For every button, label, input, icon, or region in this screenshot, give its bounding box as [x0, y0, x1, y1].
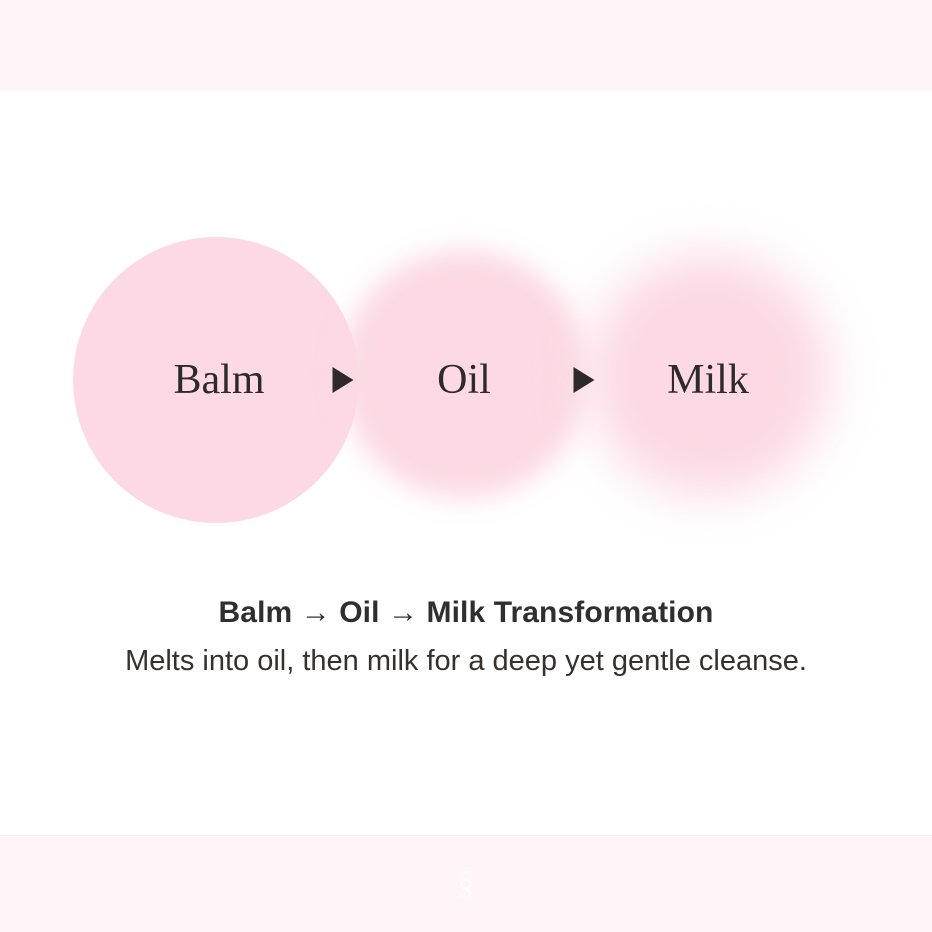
- section-mark-icon: §: [458, 867, 475, 901]
- transformation-diagram: Balm Oil Milk: [0, 210, 932, 555]
- top-accent-band: [0, 0, 932, 91]
- arrow-right-icon-2: [574, 367, 595, 393]
- caption-block: Balm → Oil → Milk Transformation Melts i…: [0, 596, 932, 678]
- phase-label-oil: Oil: [437, 359, 491, 401]
- bottom-accent-band: §: [0, 835, 932, 932]
- phase-label-balm: Balm: [174, 359, 265, 401]
- product-feature-card: Balm Oil Milk Balm → Oil → Milk Transfor…: [0, 0, 932, 932]
- phase-label-milk: Milk: [667, 359, 749, 401]
- triangle-glyph: [574, 367, 595, 393]
- arrow-right-icon-1: [333, 367, 354, 393]
- triangle-glyph: [333, 367, 354, 393]
- caption-title: Balm → Oil → Milk Transformation: [0, 596, 932, 631]
- caption-subtitle: Melts into oil, then milk for a deep yet…: [0, 645, 932, 678]
